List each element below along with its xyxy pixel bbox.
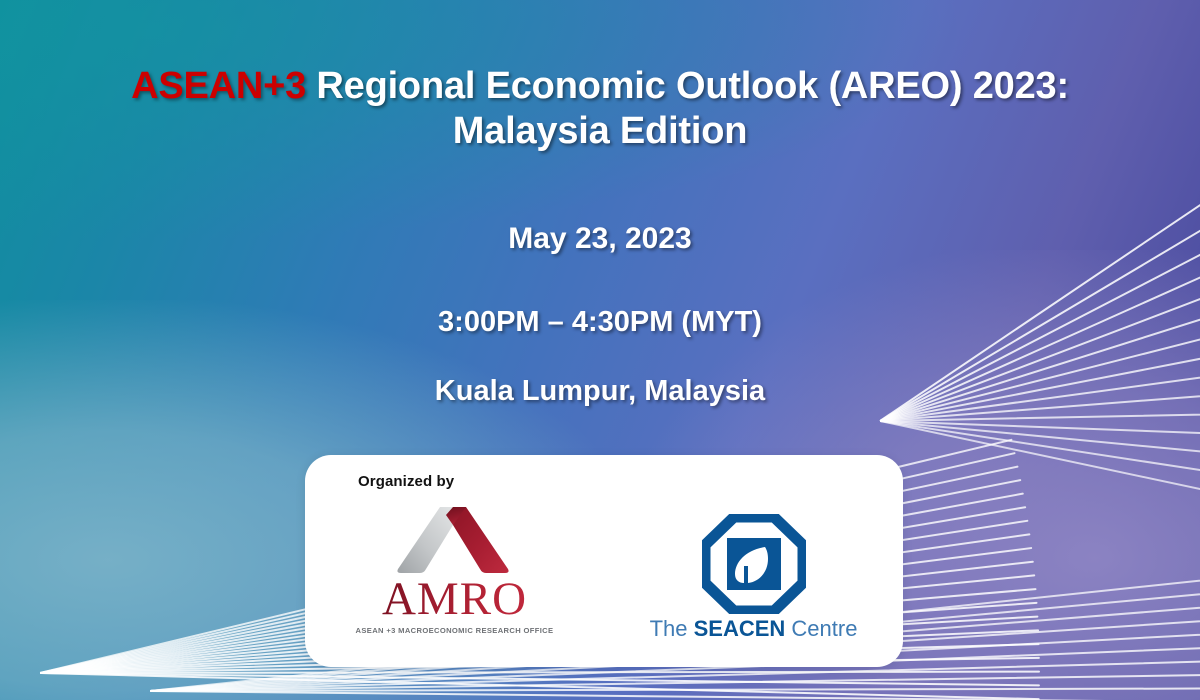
seacen-word-prefix: The	[650, 616, 694, 641]
decorative-ray	[880, 420, 1200, 463]
seacen-word-emphasis: SEACEN	[694, 616, 786, 641]
event-title-line2: Malaysia Edition	[453, 110, 748, 152]
decorative-ray	[880, 420, 1200, 487]
decorative-ray	[40, 672, 1040, 700]
event-date: May 23, 2023	[0, 222, 1200, 256]
amro-mark-icon	[396, 503, 514, 575]
amro-logo: AMRO ASEAN +3 MACROECONOMIC RESEARCH OFF…	[330, 497, 580, 635]
amro-tagline: ASEAN +3 MACROECONOMIC RESEARCH OFFICE	[356, 626, 554, 635]
decorative-ray	[880, 420, 1200, 438]
organized-by-label: Organized by	[358, 473, 454, 490]
decorative-line-fan-right	[880, 420, 1200, 421]
event-time: 3:00PM – 4:30PM (MYT)	[0, 306, 1200, 339]
decorative-line-fan-bottom	[150, 690, 1200, 691]
event-location: Kuala Lumpur, Malaysia	[0, 375, 1200, 408]
amro-wordmark: AMRO	[382, 576, 527, 623]
decorative-ray	[150, 673, 1200, 692]
event-banner: ASEAN+3 Regional Economic Outlook (AREO)…	[0, 0, 1200, 700]
decorative-ray	[150, 690, 1200, 700]
seacen-wordmark: The SEACEN Centre	[650, 618, 858, 640]
event-title-rest: Regional Economic Outlook (AREO) 2023:	[306, 65, 1069, 107]
decorative-ray	[40, 672, 1040, 686]
event-title: ASEAN+3 Regional Economic Outlook (AREO)…	[0, 64, 1200, 154]
decorative-ray	[150, 687, 1200, 692]
decorative-ray	[40, 671, 1040, 674]
seacen-mark-icon	[702, 514, 806, 614]
organizer-card: Organized by	[305, 455, 903, 667]
event-title-brand: ASEAN+3	[131, 65, 306, 107]
decorative-ray	[880, 420, 1200, 511]
organizer-logo-row: AMRO ASEAN +3 MACROECONOMIC RESEARCH OFF…	[305, 497, 903, 667]
seacen-logo: The SEACEN Centre	[629, 497, 879, 640]
seacen-word-suffix: Centre	[785, 616, 857, 641]
decorative-line-fan-left	[40, 672, 940, 673]
decorative-ray	[880, 411, 1200, 422]
